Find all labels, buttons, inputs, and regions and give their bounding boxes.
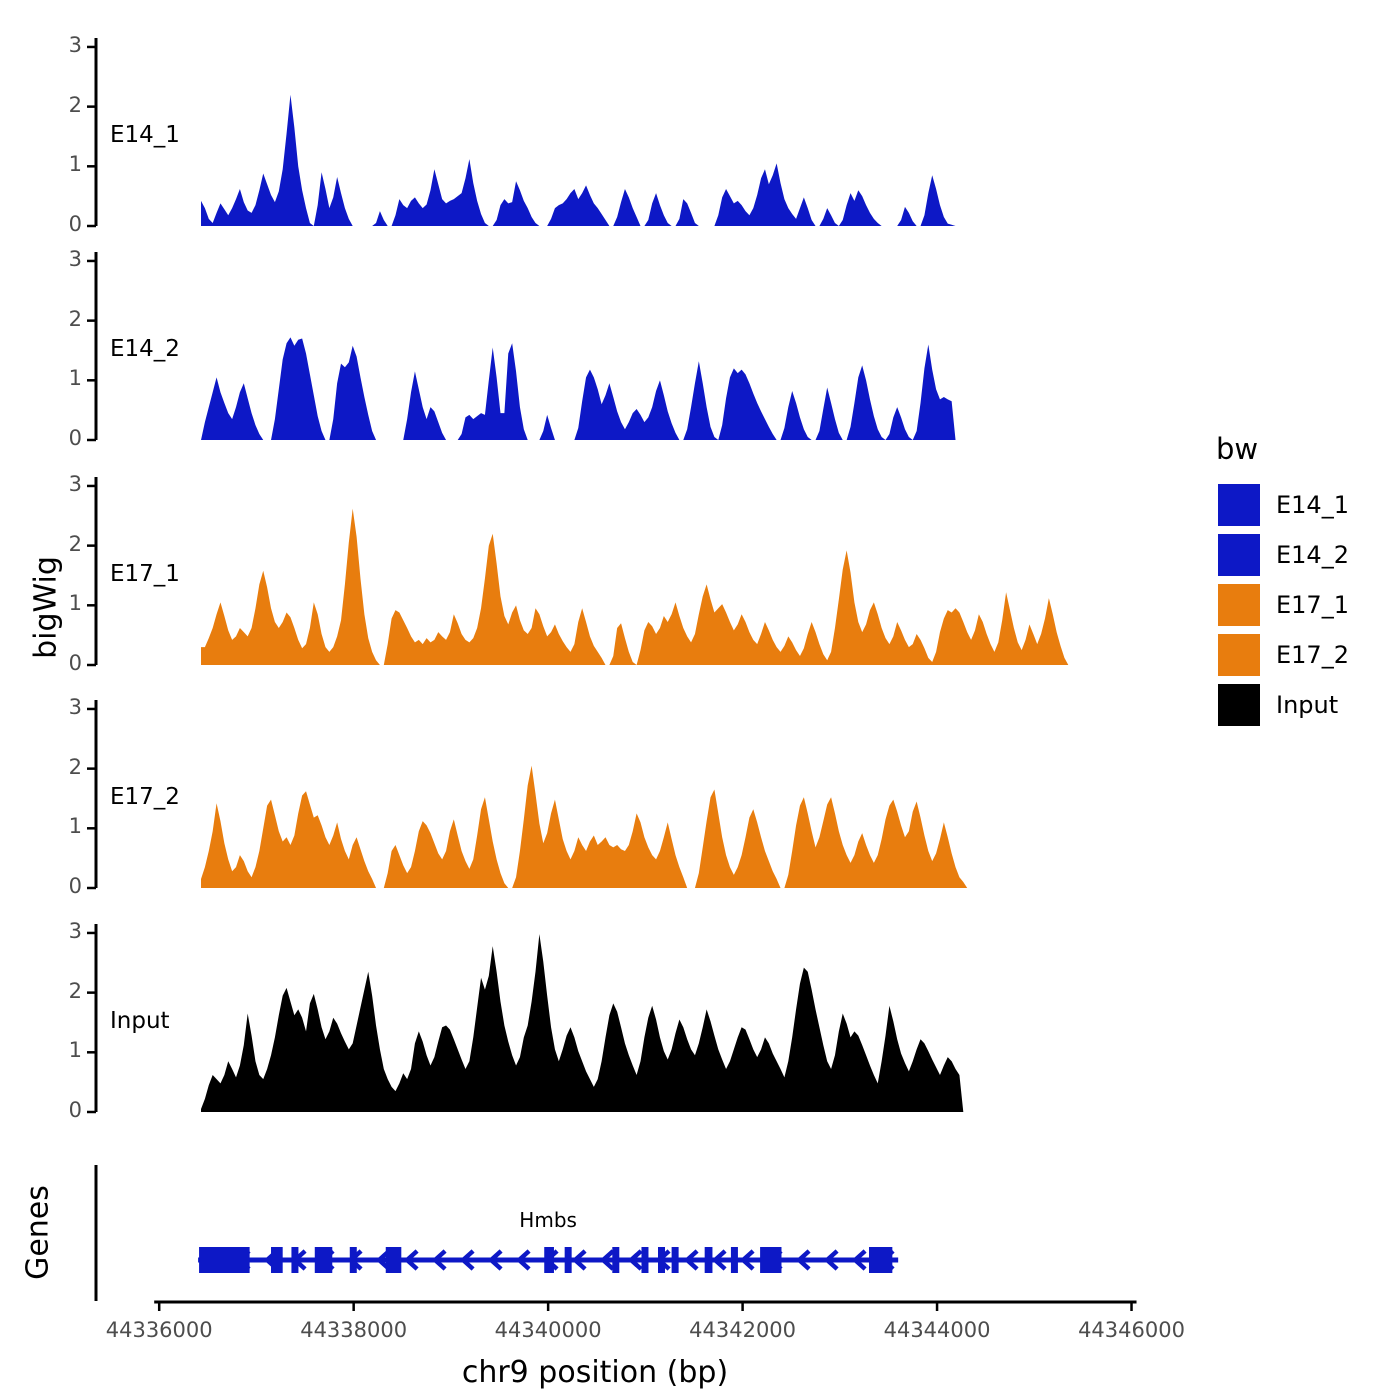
legend-swatch-input[interactable] bbox=[1218, 684, 1260, 726]
x-tick-label: 44344000 bbox=[837, 1318, 1037, 1342]
legend-swatch-e17_1[interactable] bbox=[1218, 584, 1260, 626]
x-axis-title: chr9 position (bp) bbox=[0, 1355, 1190, 1390]
track-area-input bbox=[201, 934, 963, 1112]
gene-exon bbox=[612, 1247, 619, 1273]
gene-exon bbox=[760, 1247, 781, 1273]
legend-swatch-e14_1[interactable] bbox=[1218, 484, 1260, 526]
x-tick-label: 44336000 bbox=[59, 1318, 259, 1342]
y-tick-label: 3 bbox=[40, 695, 82, 719]
y-tick-label: 1 bbox=[40, 591, 82, 615]
y-tick-label: 1 bbox=[40, 1038, 82, 1062]
track-label-e17_1: E17_1 bbox=[110, 561, 180, 587]
track-area-e17_1 bbox=[201, 509, 1068, 665]
y-tick-label: 1 bbox=[40, 814, 82, 838]
track-label-e14_2: E14_2 bbox=[110, 336, 180, 362]
y-tick-label: 3 bbox=[40, 472, 82, 496]
y-tick-label: 3 bbox=[40, 33, 82, 57]
y-tick-label: 1 bbox=[40, 366, 82, 390]
gene-exon bbox=[315, 1247, 333, 1273]
y-tick-label: 2 bbox=[40, 532, 82, 556]
gene-exon bbox=[869, 1247, 892, 1273]
track-label-e14_1: E14_1 bbox=[110, 122, 180, 148]
x-tick-label: 44338000 bbox=[254, 1318, 454, 1342]
gene-exon bbox=[271, 1247, 283, 1273]
legend-label-e17_2: E17_2 bbox=[1276, 641, 1349, 669]
y-tick-label: 0 bbox=[40, 212, 82, 236]
x-tick-label: 44340000 bbox=[448, 1318, 648, 1342]
gene-name-label: Hmbs bbox=[428, 1208, 668, 1232]
track-label-input: Input bbox=[110, 1008, 170, 1034]
track-area-e17_2 bbox=[201, 766, 967, 888]
y-tick-label: 2 bbox=[40, 307, 82, 331]
y-tick-label: 3 bbox=[40, 247, 82, 271]
track-area-e14_2 bbox=[201, 337, 956, 440]
y-tick-label: 3 bbox=[40, 919, 82, 943]
y-tick-label: 0 bbox=[40, 651, 82, 675]
gene-exon bbox=[350, 1247, 357, 1273]
legend-swatch-e14_2[interactable] bbox=[1218, 534, 1260, 576]
y-tick-label: 2 bbox=[40, 755, 82, 779]
y-tick-label: 2 bbox=[40, 979, 82, 1003]
y-tick-label: 1 bbox=[40, 152, 82, 176]
gene-exon bbox=[731, 1247, 738, 1273]
gene-exon bbox=[658, 1247, 665, 1273]
gene-exon bbox=[544, 1247, 554, 1273]
x-tick-label: 44346000 bbox=[1032, 1318, 1232, 1342]
legend-swatch-e17_2[interactable] bbox=[1218, 634, 1260, 676]
y-tick-label: 0 bbox=[40, 874, 82, 898]
legend-label-e17_1: E17_1 bbox=[1276, 591, 1349, 619]
track-plot-input bbox=[0, 921, 1190, 1125]
genes-track-plot bbox=[0, 1163, 1190, 1305]
y-tick-label: 2 bbox=[40, 93, 82, 117]
gene-exon bbox=[199, 1247, 250, 1273]
x-tick-label: 44342000 bbox=[643, 1318, 843, 1342]
gene-exon bbox=[705, 1247, 713, 1273]
gene-exon bbox=[672, 1247, 679, 1273]
legend-label-e14_2: E14_2 bbox=[1276, 541, 1349, 569]
y-tick-label: 0 bbox=[40, 426, 82, 450]
track-label-e17_2: E17_2 bbox=[110, 784, 180, 810]
track-area-e14_1 bbox=[201, 95, 956, 226]
legend-label-input: Input bbox=[1276, 691, 1338, 719]
gene-exon bbox=[291, 1247, 298, 1273]
legend-title: bw bbox=[1216, 432, 1258, 466]
legend-label-e14_1: E14_1 bbox=[1276, 491, 1349, 519]
gene-exon bbox=[641, 1247, 648, 1273]
gene-exon bbox=[565, 1247, 572, 1273]
gene-exon bbox=[386, 1247, 402, 1273]
y-tick-label: 0 bbox=[40, 1098, 82, 1122]
x-axis-svg bbox=[0, 1300, 1190, 1320]
